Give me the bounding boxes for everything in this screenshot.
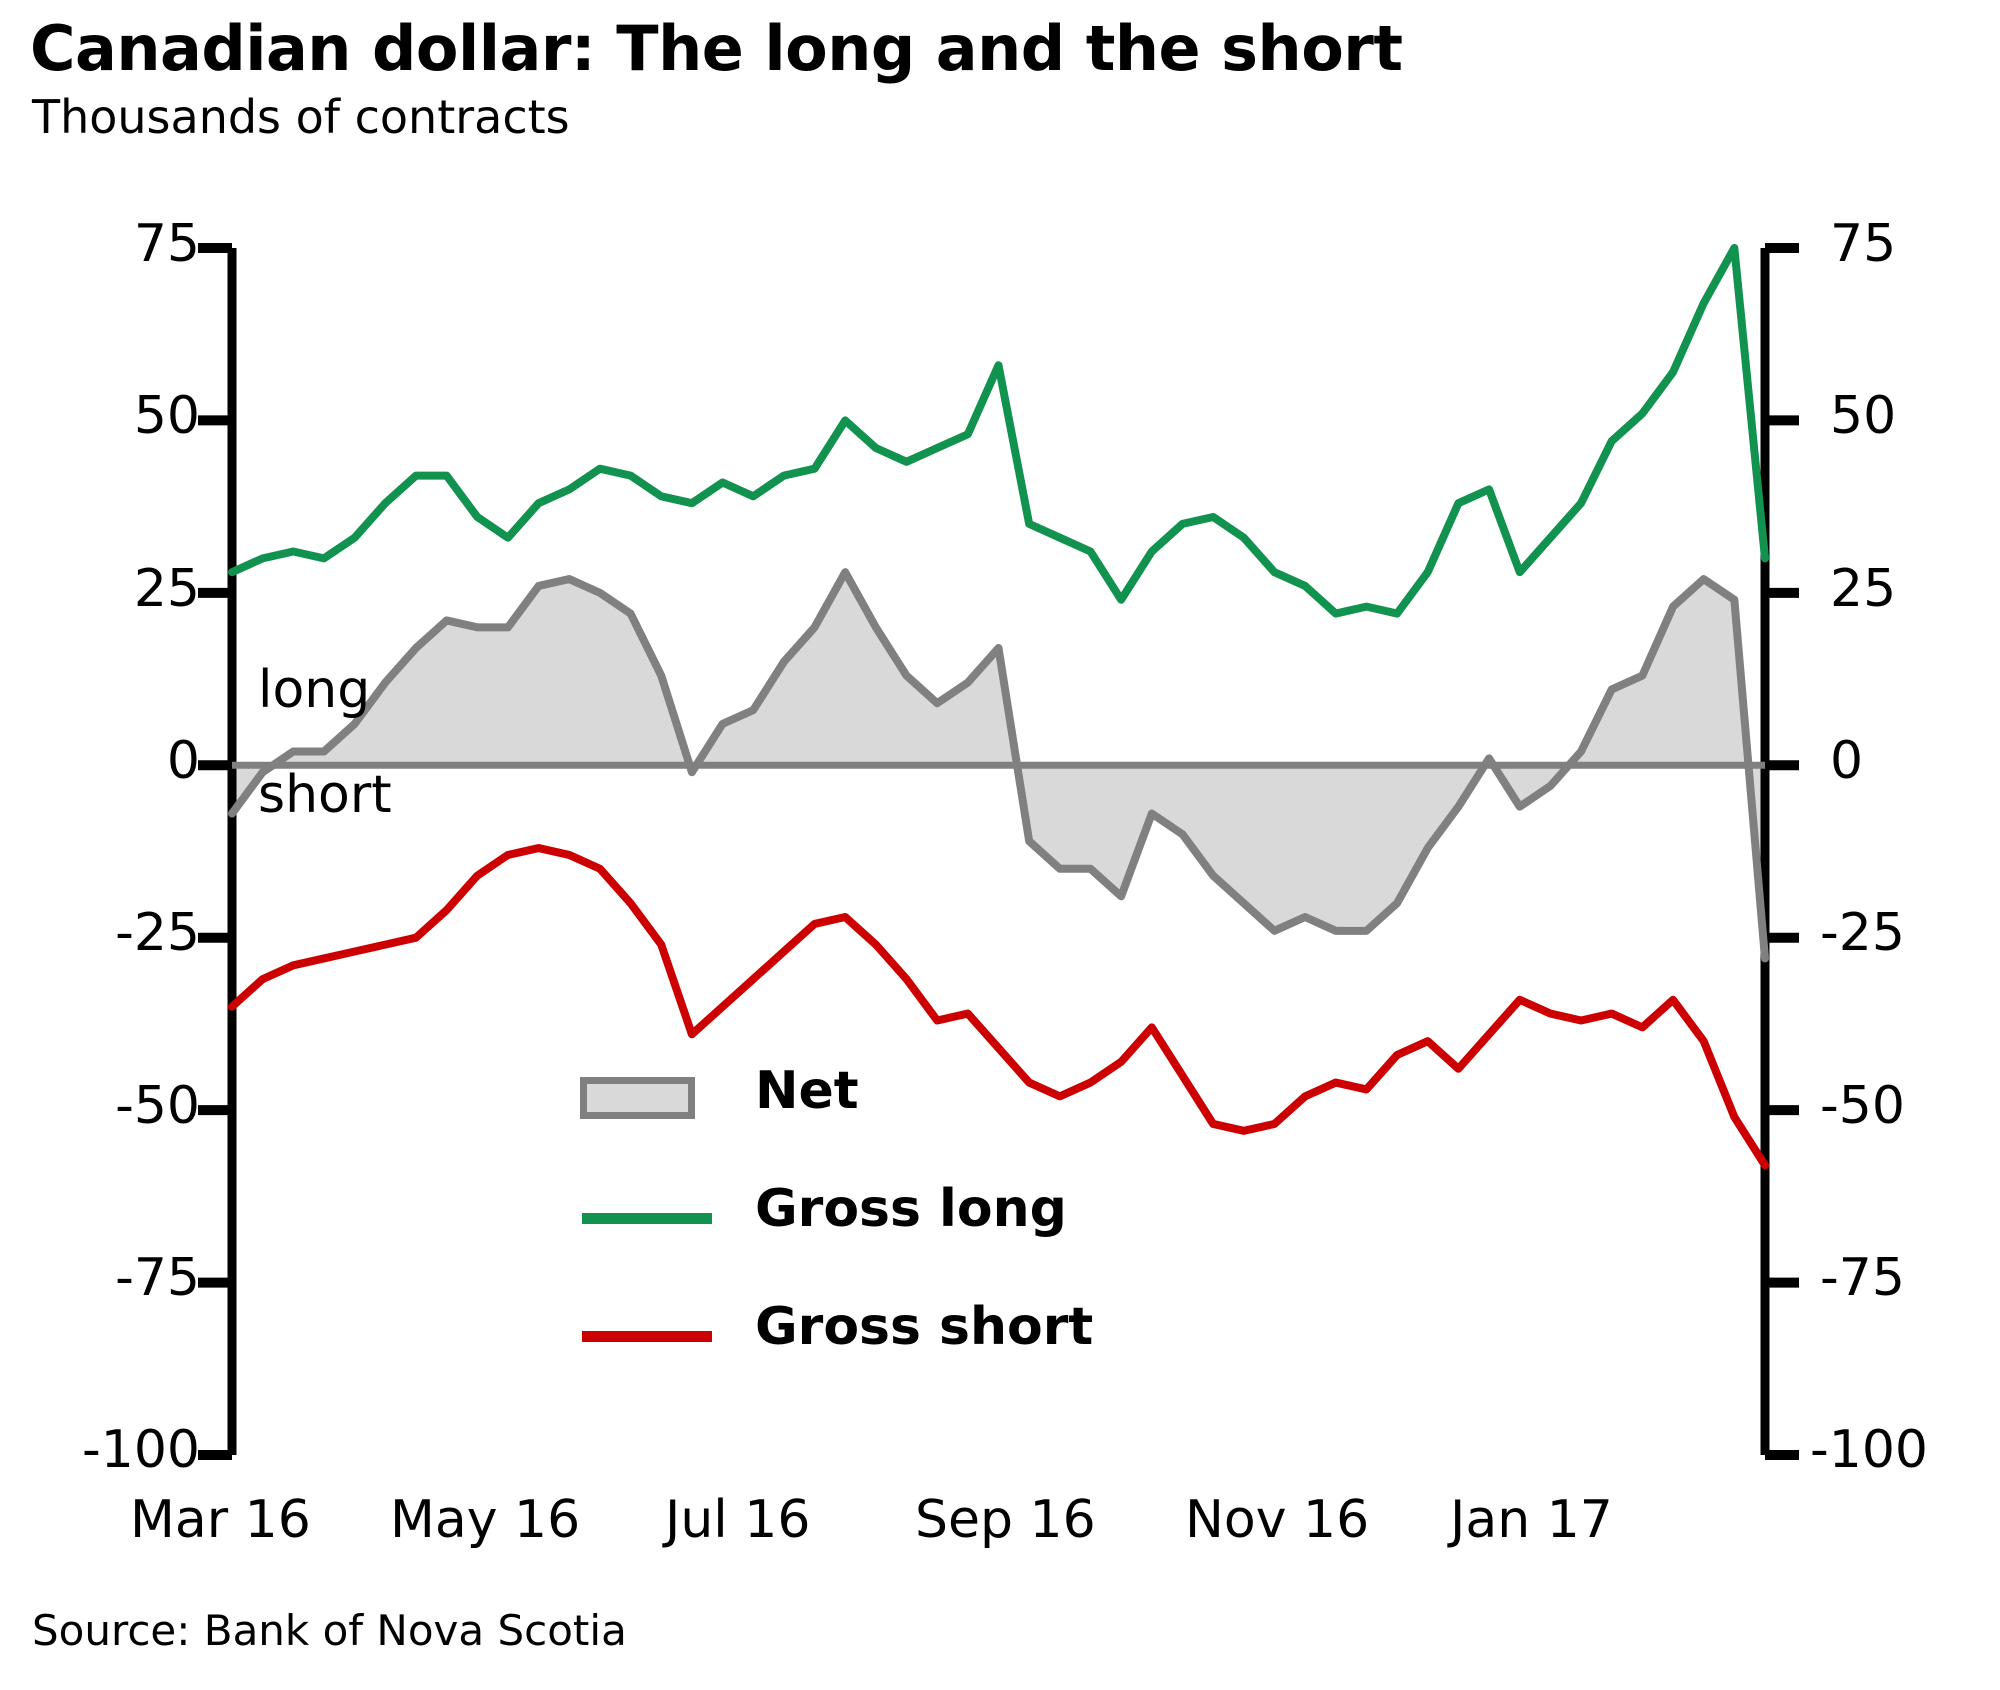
y-axis-right-label-75: 75 (1830, 214, 1896, 274)
y-axis-right-label-50: 50 (1830, 386, 1896, 446)
x-axis-label-nov-16: Nov 16 (1185, 1490, 1369, 1550)
x-axis-label-sep-16: Sep 16 (915, 1490, 1096, 1550)
chart-page: Canadian dollar: The long and the short … (0, 0, 2000, 1690)
y-axis-right-label-25: 25 (1830, 559, 1896, 619)
y-axis-right-label-m75: -75 (1820, 1248, 1905, 1308)
y-axis-left-label-m75: -75 (20, 1248, 200, 1308)
y-axis-right-label-m50: -50 (1820, 1076, 1905, 1136)
y-axis-left-label-75: 75 (20, 214, 200, 274)
chart-plot (0, 0, 2000, 1690)
legend-label-gross-long: Gross long (755, 1179, 1067, 1239)
y-axis-right-label-0: 0 (1830, 731, 1863, 791)
legend-label-gross-short: Gross short (755, 1297, 1093, 1357)
source-note: Source: Bank of Nova Scotia (32, 1606, 627, 1655)
legend-swatch-gross-long-icon (582, 1213, 712, 1224)
y-axis-left-label-m25: -25 (20, 903, 200, 963)
x-axis-label-mar-16: Mar 16 (130, 1490, 311, 1550)
x-axis-label-may-16: May 16 (390, 1490, 580, 1550)
y-axis-left-label-0: 0 (20, 731, 200, 791)
y-axis-left-label-m50: -50 (20, 1076, 200, 1136)
y-axis-left-label-25: 25 (20, 559, 200, 619)
legend-label-net: Net (755, 1061, 859, 1121)
y-axis-left-label-m100: -100 (10, 1420, 200, 1480)
legend-swatch-gross-short-icon (582, 1331, 712, 1342)
annotation-short: short (258, 765, 392, 825)
y-axis-right-label-m25: -25 (1820, 903, 1905, 963)
y-axis-right-label-m100: -100 (1810, 1420, 1928, 1480)
annotation-long: long (258, 660, 370, 720)
x-axis-label-jan-17: Jan 17 (1450, 1490, 1613, 1550)
legend-swatch-net-icon (580, 1077, 695, 1119)
y-axis-left-label-50: 50 (20, 386, 200, 446)
x-axis-label-jul-16: Jul 16 (665, 1490, 810, 1550)
